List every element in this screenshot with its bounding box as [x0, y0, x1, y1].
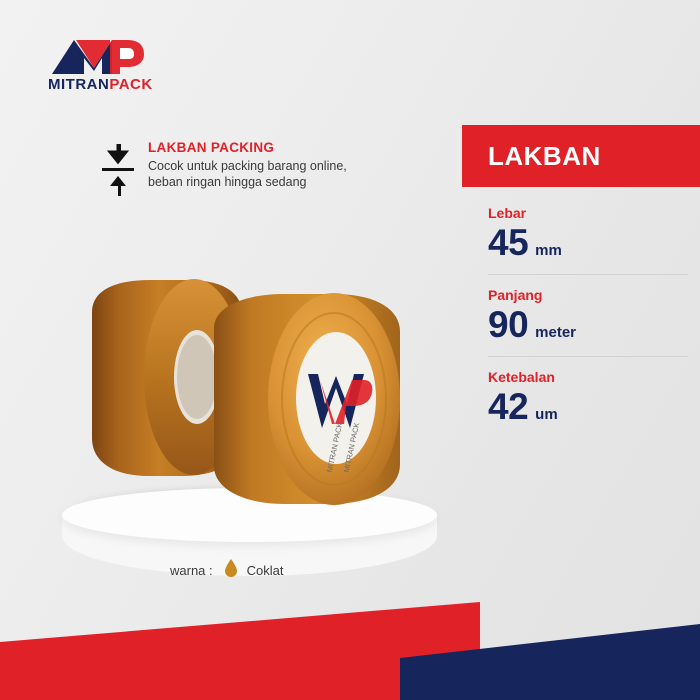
- spec-unit: mm: [535, 242, 562, 259]
- spec-banner: LAKBAN: [462, 125, 700, 187]
- feature-text: LAKBAN PACKING Cocok untuk packing baran…: [148, 140, 347, 190]
- brand-logo: MITRANPACK: [24, 34, 174, 96]
- color-row: warna : Coklat: [170, 558, 284, 583]
- spec-item-panjang: Panjang 90 meter: [488, 287, 688, 357]
- feature-description-line2: beban ringan hingga sedang: [148, 174, 347, 190]
- mitranpack-m-logo-icon: [50, 34, 146, 74]
- brand-wordmark: MITRANPACK: [48, 76, 174, 93]
- brand-name-part2: PACK: [109, 76, 152, 93]
- brand-name-part1: MITRAN: [48, 76, 109, 93]
- spec-name: Lebar: [488, 205, 688, 221]
- feature-description-line1: Cocok untuk packing barang online,: [148, 158, 347, 174]
- spec-item-ketebalan: Ketebalan 42 um: [488, 369, 688, 438]
- spec-unit: meter: [535, 324, 576, 341]
- color-drop-icon: [223, 558, 239, 583]
- feature-block: LAKBAN PACKING Cocok untuk packing baran…: [98, 140, 428, 203]
- spec-value: 45: [488, 222, 528, 264]
- tape-roll-front: MITRAN PACK MITRAN PACK: [204, 288, 454, 538]
- product-stage: MITRAN PACK MITRAN PACK: [40, 262, 440, 562]
- spec-value: 90: [488, 304, 528, 346]
- spec-value: 42: [488, 386, 528, 428]
- color-label: warna :: [170, 563, 213, 578]
- spec-name: Ketebalan: [488, 369, 688, 385]
- spec-banner-label: LAKBAN: [488, 141, 601, 172]
- spec-name: Panjang: [488, 287, 688, 303]
- feature-title: LAKBAN PACKING: [148, 140, 347, 155]
- spec-item-lebar: Lebar 45 mm: [488, 205, 688, 275]
- spec-list: Lebar 45 mm Panjang 90 meter Ketebalan 4…: [488, 205, 688, 450]
- color-value: Coklat: [247, 563, 284, 578]
- product-banner: MITRANPACK LAKBAN PACKING Cocok untuk pa…: [0, 0, 700, 700]
- thickness-arrows-icon: [98, 140, 140, 203]
- spec-unit: um: [535, 406, 558, 423]
